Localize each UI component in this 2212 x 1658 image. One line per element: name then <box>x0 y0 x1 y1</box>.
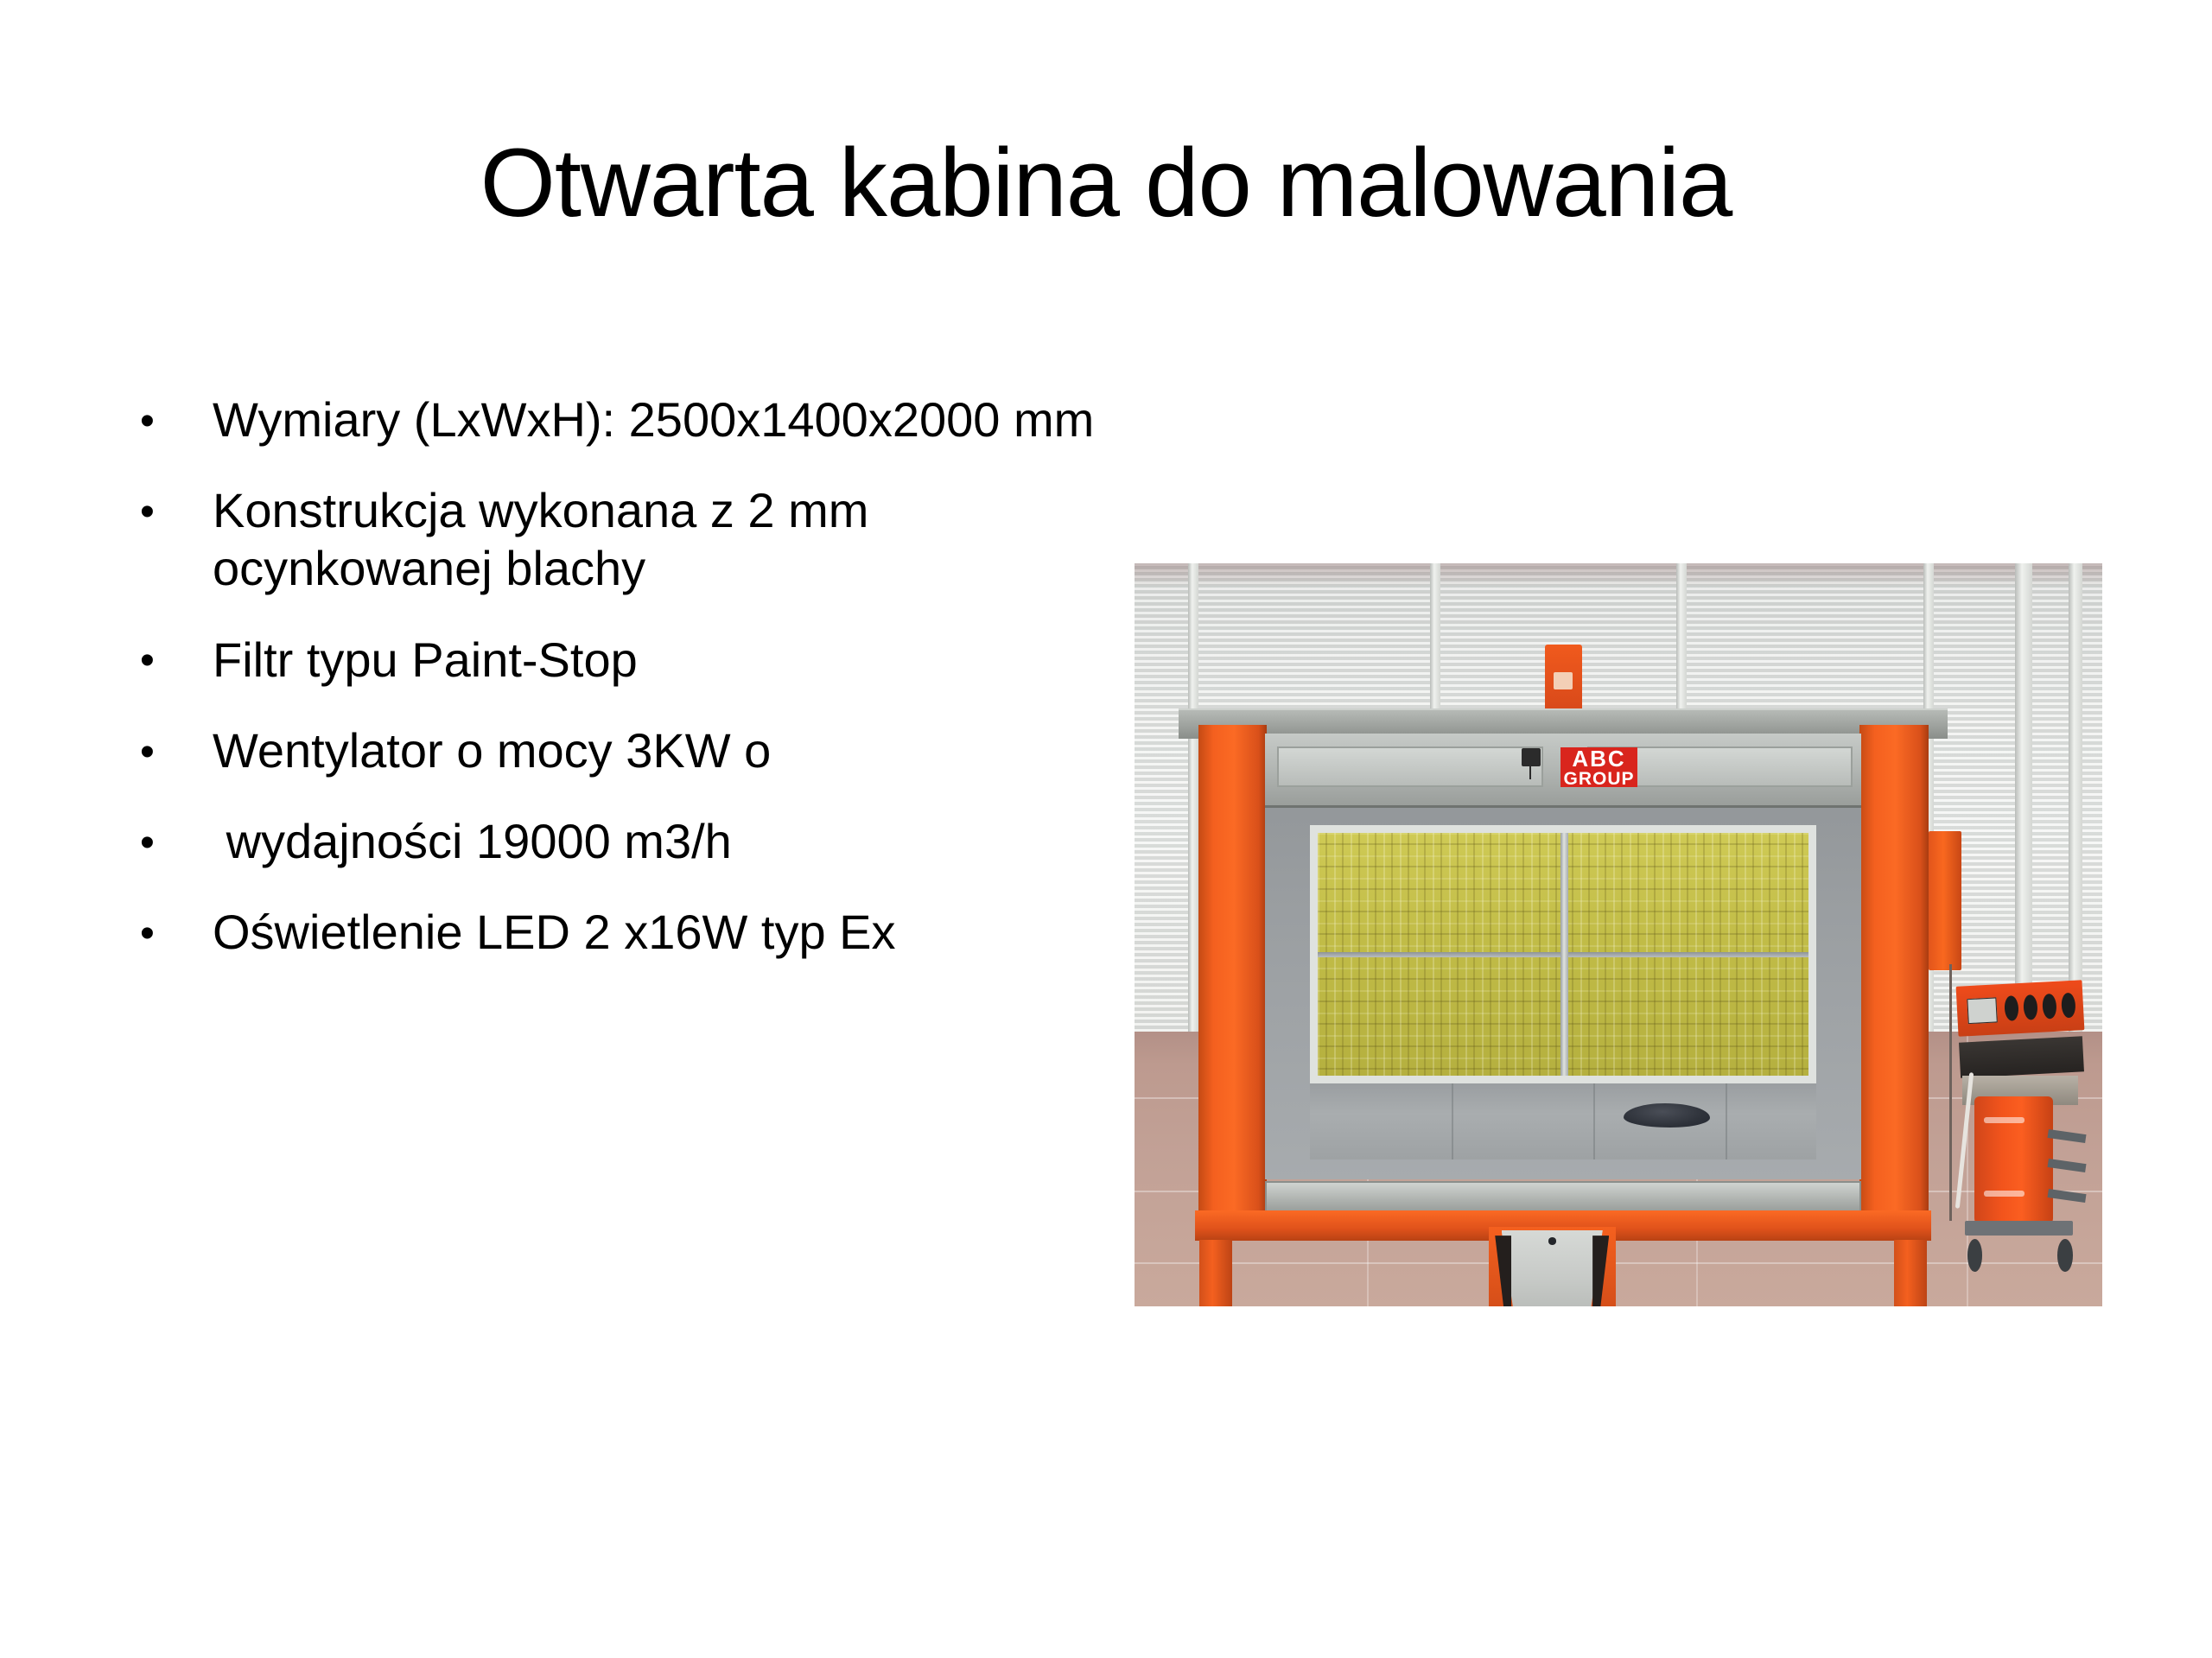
bullet-text: Filtr typu Paint-Stop <box>213 631 1097 689</box>
booth-interior: ABC GROUP <box>1265 734 1861 1179</box>
electrical-cabinet <box>1929 831 1961 970</box>
product-photo: ABC GROUP <box>1135 563 2102 1306</box>
cable-conduit <box>1949 964 1952 1221</box>
bullet-dot-icon: • <box>140 727 155 778</box>
background-rail <box>2047 1189 2086 1203</box>
bullet-text: Konstrukcja wykonana z 2 mm ocynkowanej … <box>213 481 1097 597</box>
panel-knob <box>2005 995 2020 1021</box>
list-item: • Konstrukcja wykonana z 2 mm ocynkowane… <box>130 481 1097 597</box>
hopper-wedge-right <box>1592 1236 1609 1306</box>
booth-leg-left <box>1199 1240 1232 1306</box>
list-item: • Oświetlenie LED 2 x16W typ Ex <box>130 903 1097 961</box>
bullet-text: Oświetlenie LED 2 x16W typ Ex <box>213 903 1097 961</box>
booth-sill-bar <box>1265 1181 1861 1215</box>
panel-knob <box>2042 994 2057 1020</box>
background-rail <box>2047 1129 2086 1143</box>
logo-line-1: ABC <box>1572 747 1625 770</box>
list-item: • Wentylator o mocy 3KW o <box>130 721 1097 779</box>
powder-coating-unit <box>1957 983 2083 1280</box>
booth-post-left <box>1198 725 1267 1237</box>
cart-wheel <box>1967 1239 1982 1272</box>
logo-line-2: GROUP <box>1564 770 1635 788</box>
bullet-text: wydajności 19000 m3/h <box>213 812 1097 870</box>
page-title: Otwarta kabina do malowania <box>0 131 2212 236</box>
fan-housing <box>1545 645 1582 711</box>
floor-object <box>1624 1103 1710 1128</box>
bullet-dot-icon: • <box>140 486 155 538</box>
panel-knob <box>2061 993 2076 1019</box>
bullet-text: Wentylator o mocy 3KW o <box>213 721 1097 779</box>
panel-knob <box>2023 994 2038 1020</box>
bullet-dot-icon: • <box>140 908 155 960</box>
panel-display <box>1967 998 1997 1025</box>
list-item: • Wymiary (LxWxH): 2500x1400x2000 mm <box>130 391 1097 448</box>
control-panel <box>1956 980 2084 1037</box>
feature-bullet-list: • Wymiary (LxWxH): 2500x1400x2000 mm • K… <box>130 391 1097 994</box>
wall-shadow <box>1135 563 2102 586</box>
filter-divider-vertical <box>1560 833 1568 1076</box>
collection-hopper <box>1489 1227 1616 1306</box>
led-light-housing-left <box>1277 746 1543 787</box>
wall-post <box>2015 563 2032 1032</box>
bullet-dot-icon: • <box>140 396 155 448</box>
booth-post-right <box>1859 725 1928 1237</box>
hopper-body <box>1502 1230 1603 1306</box>
bullet-dot-icon: • <box>140 817 155 869</box>
paint-stop-filter-wall <box>1310 825 1816 1083</box>
list-item: • wydajności 19000 m3/h <box>130 812 1097 870</box>
bullet-dot-icon: • <box>140 635 155 687</box>
background-rail <box>2047 1159 2086 1172</box>
powder-hopper-drum <box>1974 1096 2052 1227</box>
panel-shadow-tray <box>1959 1037 2084 1079</box>
cart-wheel <box>2057 1239 2072 1272</box>
booth-leg-right <box>1894 1240 1927 1306</box>
spray-booth: ABC GROUP <box>1191 708 1935 1266</box>
wall-post <box>2069 563 2082 1032</box>
cart-frame <box>1965 1221 2073 1236</box>
sensor-cable <box>1529 762 1531 779</box>
hopper-wedge-left <box>1495 1236 1511 1306</box>
abc-group-logo: ABC GROUP <box>1560 747 1638 787</box>
booth-header-panel: ABC GROUP <box>1265 734 1861 808</box>
photo-scene: ABC GROUP <box>1135 563 2102 1306</box>
bullet-text: Wymiary (LxWxH): 2500x1400x2000 mm <box>213 391 1097 448</box>
presentation-slide: Otwarta kabina do malowania • Wymiary (L… <box>0 0 2212 1658</box>
list-item: • Filtr typu Paint-Stop <box>130 631 1097 689</box>
booth-floor-deck <box>1310 1083 1816 1159</box>
sensor-box <box>1522 748 1541 766</box>
